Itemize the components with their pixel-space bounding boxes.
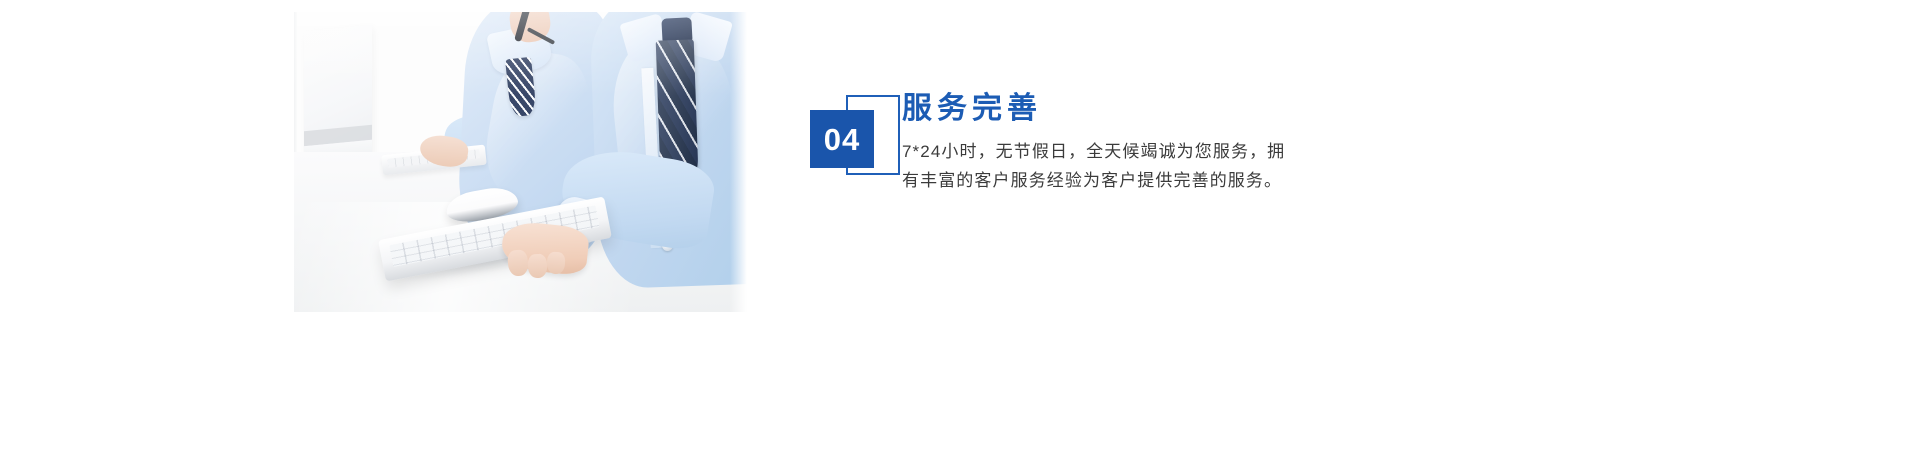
customer-service-photo: [294, 12, 756, 312]
person-b-finger: [528, 254, 548, 279]
feature-text-block: 服务完善 7*24小时，无节假日，全天候竭诚为您服务，拥有丰富的客户服务经验为客…: [902, 90, 1502, 195]
badge-number: 04: [824, 124, 860, 155]
photo-frame: [294, 12, 756, 312]
feature-description: 7*24小时，无节假日，全天候竭诚为您服务，拥有丰富的客户服务经验为客户提供完善…: [902, 137, 1294, 195]
badge-filled-square: 04: [810, 110, 874, 168]
service-feature-banner: 04 服务完善 7*24小时，无节假日，全天候竭诚为您服务，拥有丰富的客户服务经…: [0, 0, 1920, 452]
feature-headline: 服务完善: [902, 90, 1502, 128]
step-number-badge: 04: [810, 95, 900, 183]
photo-right-fade: [730, 12, 756, 312]
person-b-striped-tie: [656, 39, 699, 172]
